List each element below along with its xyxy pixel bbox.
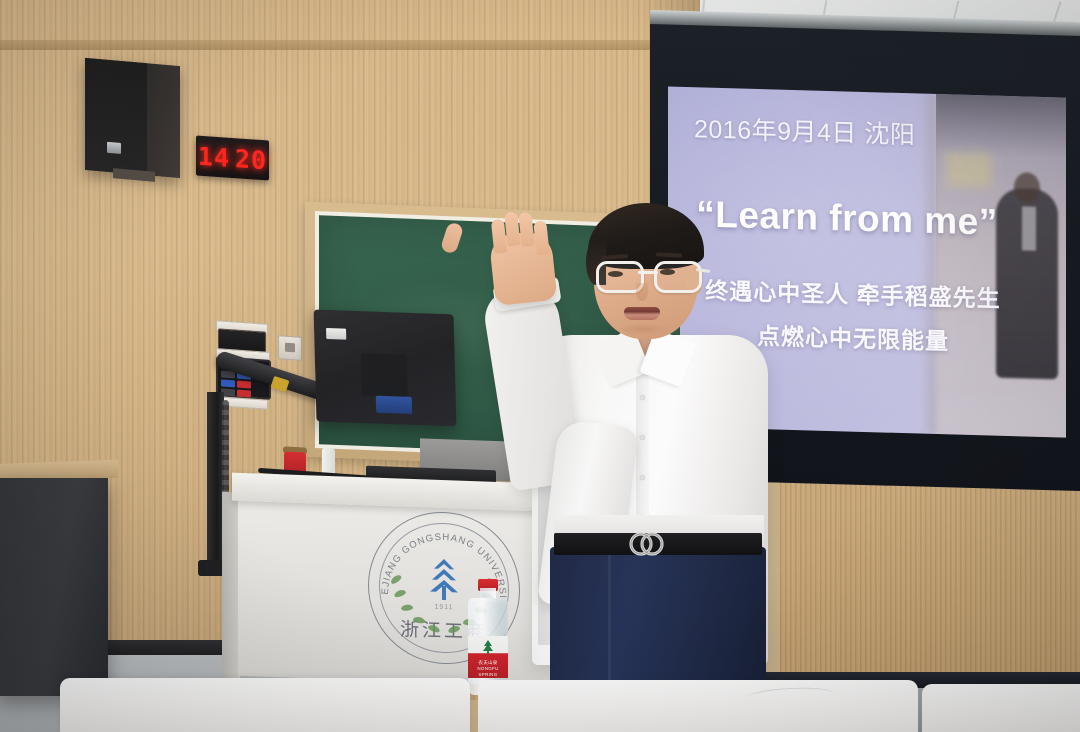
monitor-label — [326, 328, 346, 340]
slide-photo — [936, 94, 1066, 438]
nose — [636, 283, 648, 301]
speaker-face — [85, 58, 147, 175]
lens-right — [654, 261, 702, 293]
clock-hours: 14 — [198, 141, 230, 172]
presenter — [450, 195, 810, 695]
speaker-brand-logo — [107, 142, 121, 154]
classroom-photo: 2016年9月4日 沈阳 “Learn from me” 终遇心中圣人 牵手稻盛… — [0, 0, 1080, 732]
front-table-left — [60, 678, 470, 732]
photo-figure-head — [1014, 172, 1040, 203]
equipment-rack — [0, 478, 108, 696]
touch-button-red-4[interactable] — [237, 390, 251, 398]
finger-4 — [533, 220, 549, 255]
slide-date: 2016年9月4日 沈阳 — [694, 109, 915, 151]
monitor-connector — [376, 396, 412, 414]
desk-monitor — [314, 309, 457, 426]
gg-belt-buckle — [626, 529, 668, 559]
monitor-vesa-mount — [361, 353, 408, 397]
digital-clock: 14 20 — [196, 135, 269, 180]
mouth — [624, 307, 660, 320]
wood-panel-wall-right — [780, 470, 1080, 685]
wall-trim — [0, 40, 700, 50]
touch-button-blue-2[interactable] — [221, 379, 235, 387]
front-table-center — [478, 680, 918, 732]
clock-minutes: 20 — [235, 144, 267, 175]
touch-button-red-3[interactable] — [237, 381, 251, 389]
glasses-bridge — [638, 271, 658, 274]
photo-figure-shirt — [1022, 206, 1036, 250]
chin-shadow — [616, 323, 668, 335]
raised-hand — [489, 230, 558, 306]
wall-socket[interactable] — [278, 335, 302, 361]
socket-opening — [285, 343, 295, 353]
finger-3 — [518, 212, 534, 247]
photo-lamp — [946, 152, 992, 187]
wall-speaker — [85, 58, 180, 178]
photo-blend-edge — [920, 94, 936, 434]
front-table-right — [922, 684, 1080, 732]
eyeglasses — [596, 261, 700, 287]
